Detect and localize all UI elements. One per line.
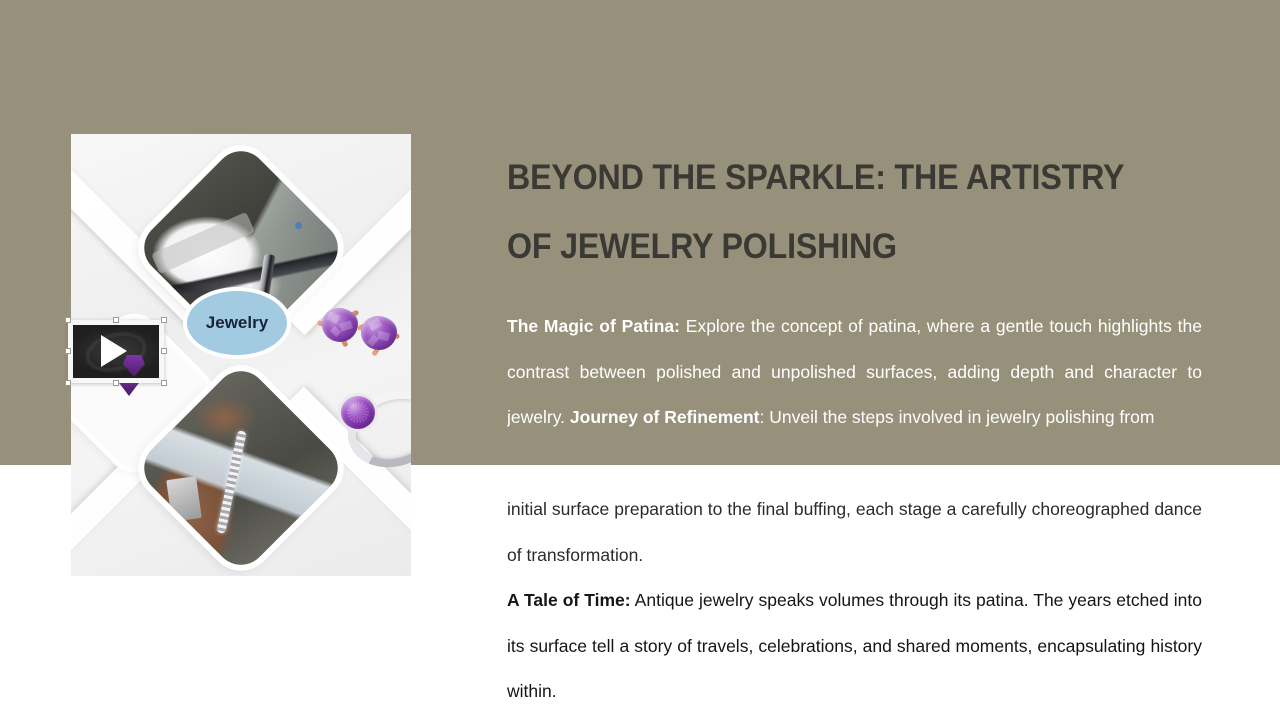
selection-handle-bottom-center[interactable]: [113, 380, 119, 386]
body-paragraph-continuation: initial surface preparation to the final…: [507, 487, 1202, 578]
blue-speck: [295, 222, 302, 229]
amethyst-gem: [322, 308, 358, 342]
selection-handle-bottom-left[interactable]: [65, 380, 71, 386]
body-paragraph-magic-of-patina-clip: The Magic of Patina: Explore the concept…: [507, 0, 1202, 465]
amethyst-gem: [341, 396, 375, 429]
gem-facet: [327, 311, 341, 324]
selection-handle-middle-right[interactable]: [161, 348, 167, 354]
selection-handle-middle-left[interactable]: [65, 348, 71, 354]
body-paragraph-tale-of-time: A Tale of Time: Antique jewelry speaks v…: [507, 578, 1202, 715]
amethyst-gem: [361, 316, 397, 350]
selection-handle-top-left[interactable]: [65, 317, 71, 323]
gem-facet: [339, 320, 353, 331]
body-paragraph-text-2: : Unveil the steps involved in jewelry p…: [760, 407, 1155, 427]
body-paragraph-magic-of-patina: The Magic of Patina: Explore the concept…: [507, 304, 1202, 441]
body-paragraph-lead-2: Journey of Refinement: [570, 407, 760, 427]
gem-facet: [368, 318, 383, 332]
video-placeholder[interactable]: [68, 320, 164, 383]
gem-facet: [377, 331, 390, 341]
jewelry-center-label: Jewelry: [187, 291, 287, 355]
amethyst-solitaire-ring: [333, 382, 411, 474]
amethyst-stud-earring-right: [356, 314, 402, 358]
body-paragraph-lead: A Tale of Time:: [507, 590, 631, 610]
ring-band: [338, 379, 411, 479]
selection-handle-bottom-right[interactable]: [161, 380, 167, 386]
white-sleeve-band: [151, 212, 255, 274]
selection-handle-top-right[interactable]: [161, 317, 167, 323]
body-paragraph-continuation-text: initial surface preparation to the final…: [507, 499, 1202, 565]
play-icon[interactable]: [101, 335, 127, 367]
silver-chain: [216, 430, 246, 534]
selection-handle-top-center[interactable]: [113, 317, 119, 323]
body-paragraph-lead: The Magic of Patina:: [507, 316, 680, 336]
jewelry-center-label-text: Jewelry: [206, 313, 268, 333]
